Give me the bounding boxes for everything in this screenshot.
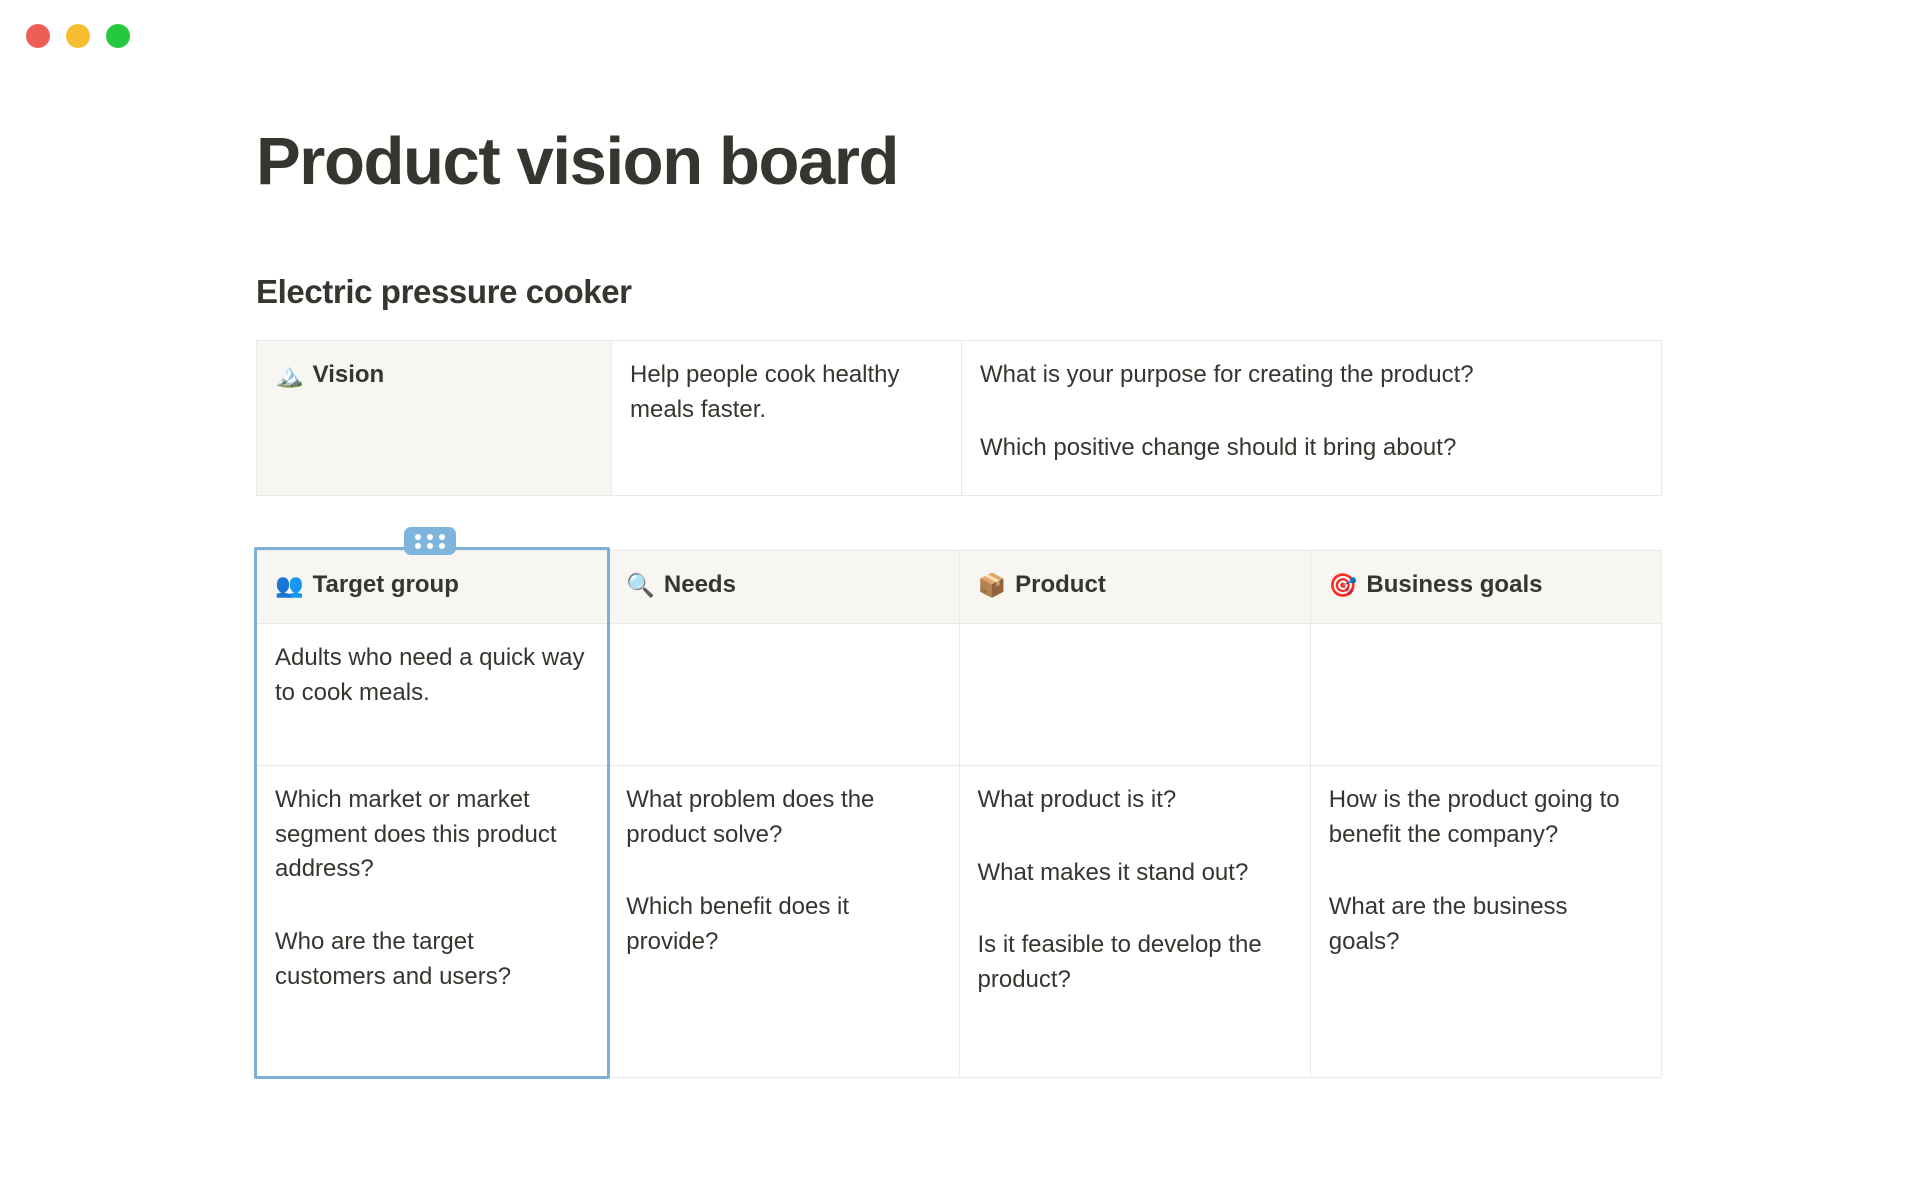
column-header-business-goals[interactable]: 🎯Business goals [1310, 550, 1661, 623]
placeholder-line: What makes it stand out? [978, 856, 1292, 891]
page-title[interactable]: Product vision board [256, 126, 1920, 198]
window-traffic-lights [26, 24, 130, 48]
value-text: Adults who need a quick way to cook meal… [275, 644, 585, 706]
column-header-product[interactable]: 📦Product [959, 550, 1310, 623]
target-dart-icon: 🎯 [1329, 569, 1358, 602]
drag-dot [415, 543, 421, 549]
drag-dot [439, 534, 445, 540]
board-table-wrapper: 👥Target group 🔍Needs 📦Product 🎯Business … [256, 550, 1661, 1078]
column-header-needs[interactable]: 🔍Needs [608, 550, 959, 623]
drag-dot [427, 543, 433, 549]
magnifying-glass-icon: 🔍 [626, 569, 655, 602]
column-header-label: Target group [313, 571, 459, 598]
page-subtitle[interactable]: Electric pressure cooker [256, 272, 1920, 312]
drag-dot [415, 534, 421, 540]
vision-value-cell[interactable]: Help people cook healthy meals faster. [612, 340, 962, 495]
two-people-icon: 👥 [275, 569, 304, 602]
page-content: Product vision board Electric pressure c… [0, 126, 1920, 1078]
placeholder-line: Is it feasible to develop the product? [978, 928, 1292, 998]
vision-placeholder-cell[interactable]: What is your purpose for creating the pr… [962, 340, 1662, 495]
column-drag-handle[interactable] [404, 527, 456, 555]
drag-dot [427, 534, 433, 540]
placeholder-cell-business-goals[interactable]: How is the product going to benefit the … [1310, 765, 1661, 1077]
column-header-label: Business goals [1366, 571, 1542, 598]
vision-header-label: Vision [313, 361, 385, 388]
placeholder-line: Which market or market segment does this… [275, 783, 589, 887]
close-window-button[interactable] [26, 24, 50, 48]
vision-value-text: Help people cook healthy meals faster. [630, 361, 900, 423]
minimize-window-button[interactable] [66, 24, 90, 48]
board-table: 👥Target group 🔍Needs 📦Product 🎯Business … [256, 550, 1662, 1078]
placeholder-line: What problem does the product solve? [626, 783, 940, 853]
table-row: 🏔️Vision Help people cook healthy meals … [257, 340, 1662, 495]
placeholder-line: How is the product going to benefit the … [1329, 783, 1643, 853]
window-titlebar [0, 0, 1920, 72]
drag-dot [439, 543, 445, 549]
placeholder-line: Who are the target customers and users? [275, 925, 589, 995]
placeholder-line: What are the business goals? [1329, 890, 1643, 960]
value-cell-needs[interactable] [608, 623, 959, 765]
value-cell-business-goals[interactable] [1310, 623, 1661, 765]
value-cell-product[interactable] [959, 623, 1310, 765]
table-row: Adults who need a quick way to cook meal… [257, 623, 1662, 765]
vision-placeholder-line: What is your purpose for creating the pr… [980, 358, 1643, 393]
column-header-label: Needs [664, 571, 736, 598]
placeholder-cell-product[interactable]: What product is it? What makes it stand … [959, 765, 1310, 1077]
column-header-target-group[interactable]: 👥Target group [257, 550, 608, 623]
placeholder-cell-needs[interactable]: What problem does the product solve? Whi… [608, 765, 959, 1077]
vision-table: 🏔️Vision Help people cook healthy meals … [256, 340, 1662, 496]
mountain-icon: 🏔️ [275, 359, 304, 392]
placeholder-cell-target-group[interactable]: Which market or market segment does this… [257, 765, 608, 1077]
column-header-label: Product [1015, 571, 1106, 598]
package-box-icon: 📦 [978, 569, 1007, 602]
placeholder-line: Which benefit does it provide? [626, 890, 940, 960]
table-header-row: 👥Target group 🔍Needs 📦Product 🎯Business … [257, 550, 1662, 623]
placeholder-line: What product is it? [978, 783, 1292, 818]
table-row: Which market or market segment does this… [257, 765, 1662, 1077]
vision-placeholder-line: Which positive change should it bring ab… [980, 431, 1643, 466]
maximize-window-button[interactable] [106, 24, 130, 48]
value-cell-target-group[interactable]: Adults who need a quick way to cook meal… [257, 623, 608, 765]
vision-header-cell[interactable]: 🏔️Vision [257, 340, 612, 495]
